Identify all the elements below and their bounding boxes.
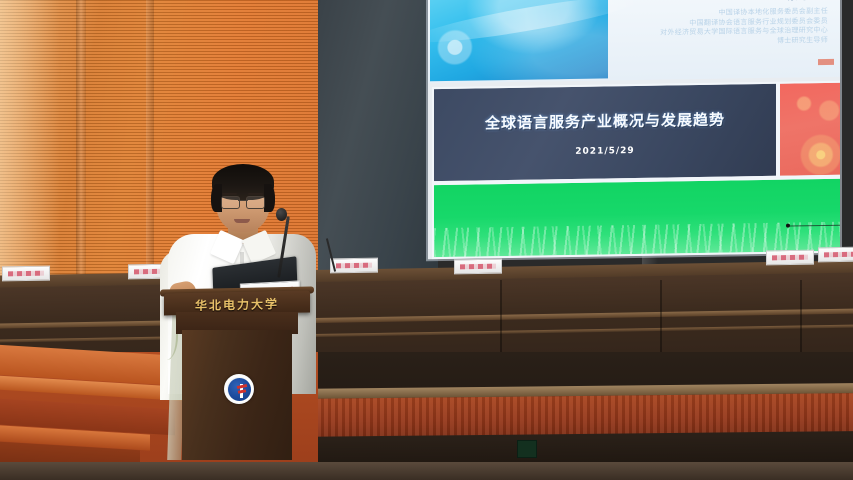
slide-date: 2021/5/29: [434, 144, 776, 159]
slide-title: 全球语言服务产业概况与发展趋势: [434, 108, 776, 134]
presentation-photo: 蒙永业 中国译协本地化服务委员会副主任 中国翻译协会语言服务行业规划委员会委员 …: [0, 0, 853, 480]
slide-title-band: 全球语言服务产业概况与发展趋势 2021/5/29: [432, 82, 778, 183]
emblem-inner-disc: [228, 378, 251, 401]
table-namecard: [454, 259, 502, 275]
table-namecard: [766, 250, 814, 266]
slide-author-name: 蒙永业: [787, 0, 826, 4]
speaker-hair-side: [264, 184, 275, 212]
ncepu-emblem-icon: [224, 374, 254, 404]
emblem-mark-red: [236, 383, 246, 388]
table-namecard: [818, 247, 853, 263]
speaker-eyebrow: [222, 193, 237, 195]
projection-screen: 蒙永业 中国译协本地化服务委员会副主任 中国翻译协会语言服务行业规划委员会委员 …: [428, 0, 840, 259]
slide-accent-chip: [818, 59, 834, 65]
glasses-lens-right: [246, 196, 265, 209]
wall-seam-2: [146, 0, 154, 305]
slide-grass-panel: [432, 177, 840, 259]
speaker-mouth: [234, 219, 250, 223]
microphone-head: [276, 208, 287, 221]
glasses-lens-left: [221, 196, 240, 209]
wall-dark-panel: [318, 0, 438, 300]
slide-accent-panel: [778, 81, 840, 178]
table-namecard: [2, 266, 50, 282]
speaker-eyebrow: [248, 193, 263, 195]
wall-seam-1: [76, 0, 86, 305]
speaker-glasses: [221, 196, 265, 207]
slide-affiliation-list: 中国译协本地化服务委员会副主任 中国翻译协会语言服务行业规划委员会委员 对外经济…: [578, 7, 828, 49]
foreground-floor: [0, 462, 853, 480]
wall-highlight: [0, 0, 60, 305]
table-namecard: [330, 258, 378, 274]
